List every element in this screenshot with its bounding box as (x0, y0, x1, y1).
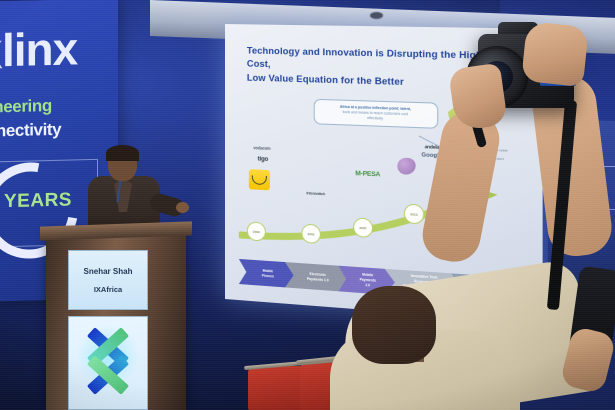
podium-name-sign: Snehar Shah IXAfrica (68, 250, 148, 310)
ixafrica-x-logo (68, 316, 148, 410)
ecosystem-blob-icon (397, 157, 415, 174)
timeline-node-2000: 2000 (247, 221, 266, 241)
anniversary-years-label: YEARS (4, 190, 72, 214)
slide-callout-box: Africa at a positive inflection point; t… (314, 99, 439, 129)
speaker-org-label: IXAfrica (94, 285, 122, 294)
speaker-hair (106, 145, 139, 161)
mtn-logo (249, 169, 270, 190)
timeline-node-2007: 2007 (353, 217, 373, 238)
mpesa-logo: M-PESA (345, 170, 391, 179)
screenshot-root: Technology and Innovation is Disrupting … (0, 0, 615, 410)
photographer-right-hand (521, 21, 589, 87)
mtn-logo-mark (252, 175, 267, 185)
speaker-name-label: Snehar Shah (84, 267, 133, 276)
banner-tagline-line1: Pioneering (0, 96, 52, 118)
foreground-person-head (352, 286, 436, 364)
timeline-node-2012: 2012 (404, 204, 424, 225)
ceiling-speaker-icon (370, 12, 383, 19)
logo-glow (75, 325, 141, 395)
linx-brand-wordmark: linx (2, 25, 77, 73)
speaker-hand (176, 202, 189, 213)
tigo-logo: tigo (245, 155, 281, 164)
vodacom-logo: vodacom (241, 145, 283, 152)
timeline-node-2002: 2002 (301, 224, 321, 245)
banner-tagline-line2: Connectivity (0, 120, 61, 142)
